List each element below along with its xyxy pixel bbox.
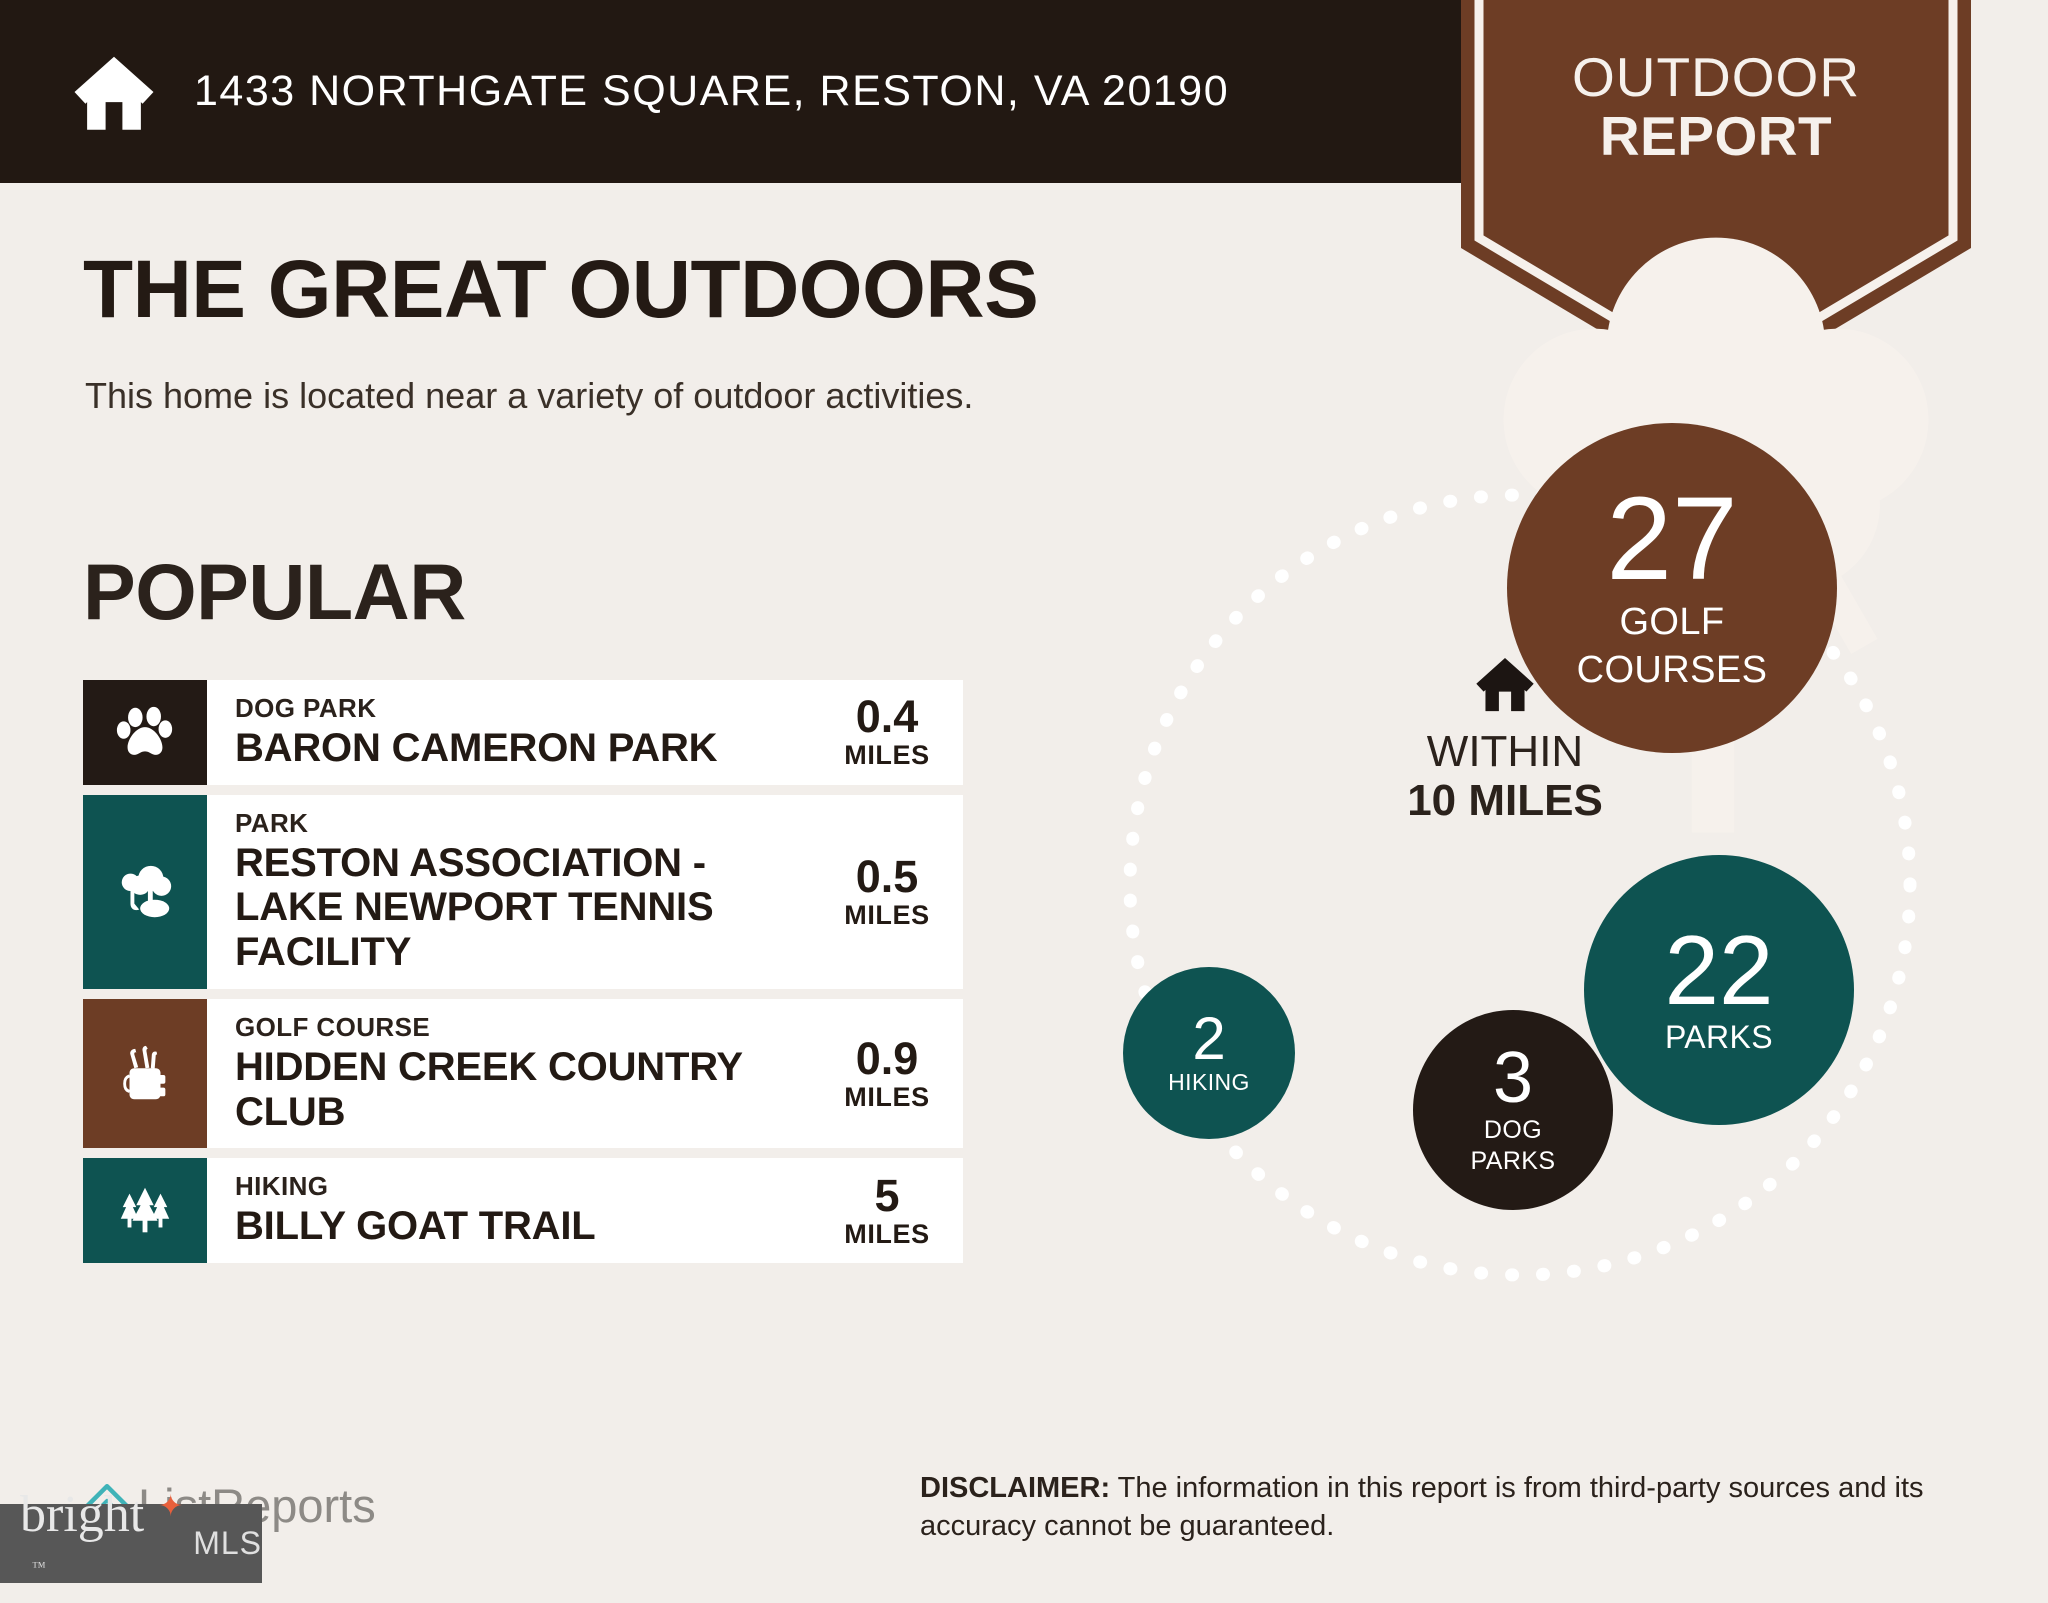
bubble-hiking[interactable]: 2 HIKING xyxy=(1123,967,1295,1139)
bubble-label-line2: COURSES xyxy=(1577,650,1768,690)
list-item[interactable]: PARK RESTON ASSOCIATION - LAKE NEWPORT T… xyxy=(83,795,963,989)
home-icon xyxy=(72,50,156,134)
poi-icon-tile xyxy=(83,999,207,1148)
poi-distance-unit: MILES xyxy=(844,900,930,931)
poi-text: DOG PARK BARON CAMERON PARK xyxy=(207,680,833,785)
poi-distance-value: 0.4 xyxy=(856,693,919,740)
pine-trees-icon xyxy=(114,1180,176,1242)
poi-text: PARK RESTON ASSOCIATION - LAKE NEWPORT T… xyxy=(207,795,833,989)
amenities-summary-diagram: WITHIN 10 MILES 27 GOLF COURSES 22 PARKS… xyxy=(1100,455,2000,1365)
poi-text: HIKING BILLY GOAT TRAIL xyxy=(207,1158,833,1263)
popular-list: DOG PARK BARON CAMERON PARK 0.4 MILES xyxy=(83,680,963,1273)
poi-name: HIDDEN CREEK COUNTRY CLUB xyxy=(235,1045,823,1135)
popular-heading: POPULAR xyxy=(83,546,466,638)
bright-mls-watermark: bright ✦ ™ MLS xyxy=(0,1504,262,1583)
poi-distance: 0.5 MILES xyxy=(833,795,963,989)
list-item[interactable]: HIKING BILLY GOAT TRAIL 5 MILES xyxy=(83,1158,963,1263)
poi-icon-tile xyxy=(83,680,207,785)
page-subtitle: This home is located near a variety of o… xyxy=(85,375,973,417)
bubble-label-line1: PARKS xyxy=(1665,1021,1773,1055)
bubble-label-line1: HIKING xyxy=(1168,1070,1250,1094)
bright-wordmark: bright ✦ ™ xyxy=(20,1485,179,1603)
trees-icon xyxy=(114,861,176,923)
poi-name: BARON CAMERON PARK xyxy=(235,726,823,771)
poi-text: GOLF COURSE HIDDEN CREEK COUNTRY CLUB xyxy=(207,999,833,1148)
poi-category: DOG PARK xyxy=(235,694,823,724)
bubble-value: 22 xyxy=(1664,925,1773,1015)
property-address: 1433 NORTHGATE SQUARE, RESTON, VA 20190 xyxy=(194,67,1229,116)
bubble-dog-parks[interactable]: 3 DOG PARKS xyxy=(1413,1010,1613,1210)
poi-distance-unit: MILES xyxy=(844,1082,930,1113)
poi-name: BILLY GOAT TRAIL xyxy=(235,1204,823,1249)
bright-text: bright xyxy=(20,1486,144,1543)
poi-category: HIKING xyxy=(235,1172,823,1202)
page-title: THE GREAT OUTDOORS xyxy=(83,243,1038,337)
bubble-value: 2 xyxy=(1192,1011,1225,1066)
poi-distance: 0.9 MILES xyxy=(833,999,963,1148)
star-icon: ✦ xyxy=(158,1489,183,1524)
poi-icon-tile xyxy=(83,795,207,989)
trademark-symbol: ™ xyxy=(32,1560,46,1575)
list-item[interactable]: DOG PARK BARON CAMERON PARK 0.4 MILES xyxy=(83,680,963,785)
paw-icon xyxy=(114,701,176,763)
bubble-label-line2: PARKS xyxy=(1471,1148,1556,1175)
mls-label: MLS xyxy=(193,1525,262,1562)
bubble-label-line1: GOLF xyxy=(1619,602,1724,642)
poi-distance-value: 5 xyxy=(874,1172,899,1219)
poi-distance: 0.4 MILES xyxy=(833,680,963,785)
bubble-label-line1: DOG xyxy=(1484,1117,1542,1144)
disclaimer-label: DISCLAIMER: xyxy=(920,1472,1110,1504)
header-bar: 1433 NORTHGATE SQUARE, RESTON, VA 20190 xyxy=(0,0,1556,183)
poi-category: GOLF COURSE xyxy=(235,1013,823,1043)
golf-bag-icon xyxy=(114,1043,176,1105)
poi-distance-value: 0.9 xyxy=(856,1035,919,1082)
poi-name: RESTON ASSOCIATION - LAKE NEWPORT TENNIS… xyxy=(235,841,823,975)
poi-icon-tile xyxy=(83,1158,207,1263)
outdoor-report-badge: OUTDOOR REPORT xyxy=(1461,0,1971,400)
poi-distance-unit: MILES xyxy=(844,740,930,771)
center-line-distance: 10 MILES xyxy=(1335,776,1675,825)
poi-distance: 5 MILES xyxy=(833,1158,963,1263)
list-item[interactable]: GOLF COURSE HIDDEN CREEK COUNTRY CLUB 0.… xyxy=(83,999,963,1148)
bubble-parks[interactable]: 22 PARKS xyxy=(1584,855,1854,1125)
bubble-value: 27 xyxy=(1606,485,1737,594)
bubble-value: 3 xyxy=(1493,1045,1533,1111)
disclaimer: DISCLAIMER: The information in this repo… xyxy=(920,1469,2005,1546)
poi-category: PARK xyxy=(235,809,823,839)
bubble-golf-courses[interactable]: 27 GOLF COURSES xyxy=(1507,423,1837,753)
poi-distance-value: 0.5 xyxy=(856,853,919,900)
poi-distance-unit: MILES xyxy=(844,1219,930,1250)
